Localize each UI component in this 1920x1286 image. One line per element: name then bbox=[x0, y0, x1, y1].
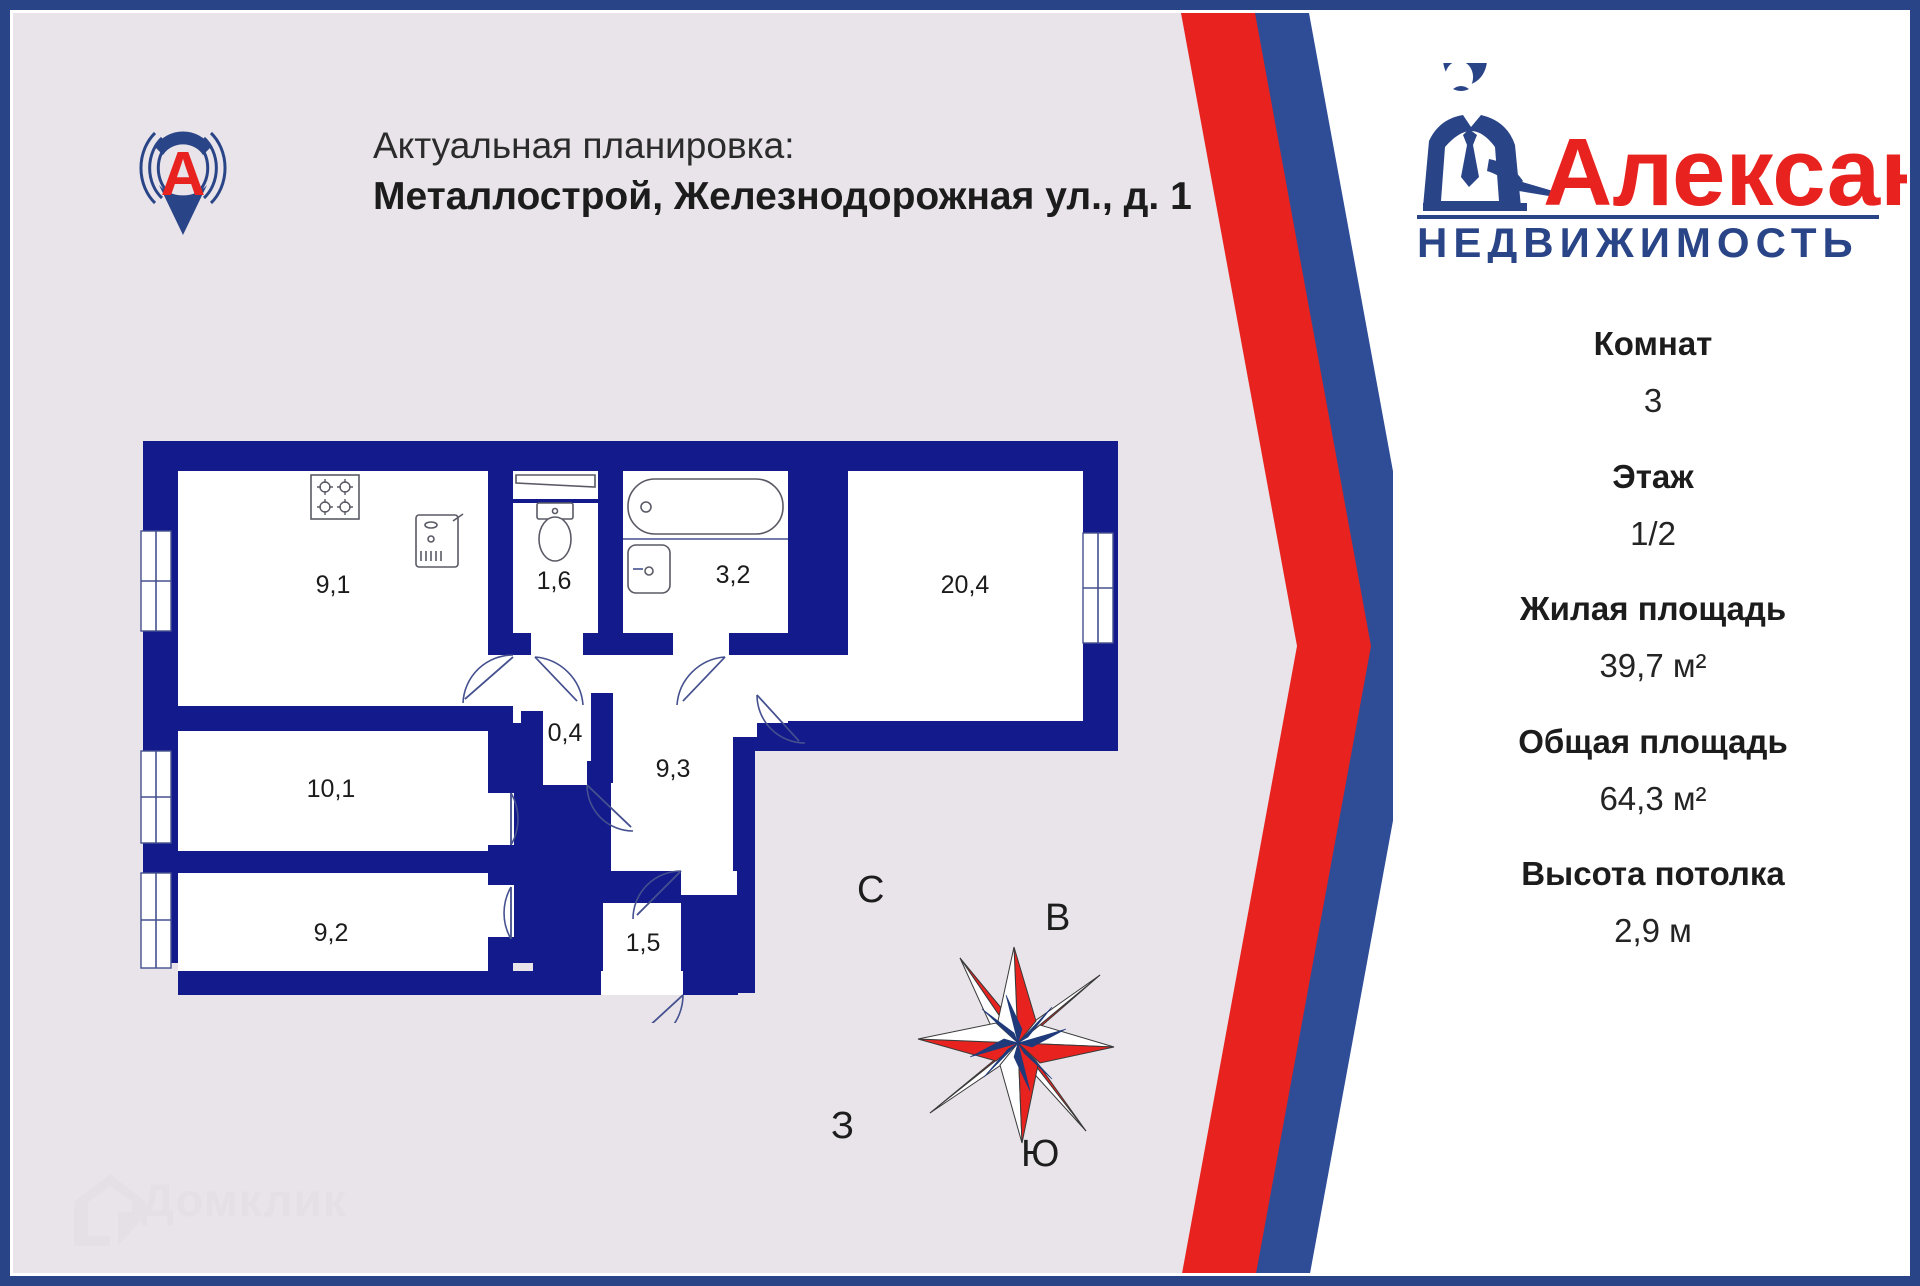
property-stats: Комнат 3 Этаж 1/2 Жилая площадь 39,7 м² … bbox=[1413, 323, 1893, 986]
room-label-wc: 1,6 bbox=[537, 567, 572, 595]
room-label-living-room: 20,4 bbox=[941, 571, 990, 599]
toilet-icon bbox=[537, 503, 573, 561]
room-label-kitchen: 9,1 bbox=[316, 571, 351, 599]
stat-ceiling-height-value: 2,9 м bbox=[1413, 910, 1893, 951]
stat-ceiling-height-label: Высота потолка bbox=[1413, 853, 1893, 894]
room-label-bedroom-large: 10,1 bbox=[307, 775, 356, 803]
room-label-bathroom: 3,2 bbox=[716, 561, 751, 589]
bathtub-icon bbox=[628, 479, 783, 534]
stat-total-area-value: 64,3 м² bbox=[1413, 778, 1893, 819]
page-root: А Актуальная планировка: Металлострой, Ж… bbox=[0, 0, 1920, 1286]
stat-floor-value: 1/2 bbox=[1413, 513, 1893, 554]
compass-rose-icon bbox=[918, 947, 1114, 1143]
compass-west: З bbox=[831, 1105, 854, 1148]
room-label-vestibule: 1,5 bbox=[626, 929, 661, 957]
stat-total-area-label: Общая площадь bbox=[1413, 721, 1893, 762]
compass-south: Ю bbox=[1021, 1133, 1059, 1176]
poster-frame: А Актуальная планировка: Металлострой, Ж… bbox=[10, 10, 1910, 1276]
floorplan-pane: А Актуальная планировка: Металлострой, Ж… bbox=[13, 13, 1393, 1273]
page-title: Металлострой, Железнодорожная ул., д. 1 bbox=[373, 175, 1192, 219]
stat-rooms: Комнат 3 bbox=[1413, 323, 1893, 422]
page-subtitle: Актуальная планировка: bbox=[373, 125, 1192, 167]
room-label-closet: 0,4 bbox=[548, 719, 583, 747]
title-block: Актуальная планировка: Металлострой, Жел… bbox=[373, 125, 1192, 219]
stat-living-area-value: 39,7 м² bbox=[1413, 645, 1893, 686]
agent-silhouette-icon bbox=[1423, 63, 1555, 211]
washbasin-icon bbox=[628, 545, 670, 593]
room-label-hall: 9,3 bbox=[656, 755, 691, 783]
kitchen-sink-icon bbox=[416, 514, 463, 567]
stat-rooms-label: Комнат bbox=[1413, 323, 1893, 364]
stat-floor: Этаж 1/2 bbox=[1413, 456, 1893, 555]
stat-living-area-label: Жилая площадь bbox=[1413, 588, 1893, 629]
watermark-text: Домклик bbox=[141, 1173, 347, 1227]
stat-total-area: Общая площадь 64,3 м² bbox=[1413, 721, 1893, 820]
stat-floor-label: Этаж bbox=[1413, 456, 1893, 497]
location-pin-icon: А bbox=[135, 111, 231, 241]
pin-letter: А bbox=[161, 140, 206, 209]
stat-ceiling-height: Высота потолка 2,9 м bbox=[1413, 853, 1893, 952]
compass-north: С bbox=[857, 869, 884, 912]
stat-rooms-value: 3 bbox=[1413, 380, 1893, 421]
stove-icon bbox=[311, 475, 359, 519]
brand-tagline: НЕДВИЖИМОСТЬ bbox=[1417, 219, 1859, 263]
room-label-bedroom-small: 9,2 bbox=[314, 919, 349, 947]
stat-living-area: Жилая площадь 39,7 м² bbox=[1413, 588, 1893, 687]
brand-logo: Александр НЕДВИЖИМОСТЬ bbox=[1393, 63, 1910, 263]
compass-east: В bbox=[1045, 897, 1070, 940]
brand-name: Александр bbox=[1543, 119, 1910, 226]
compass-rose: С В З Ю bbox=[873, 893, 1163, 1193]
